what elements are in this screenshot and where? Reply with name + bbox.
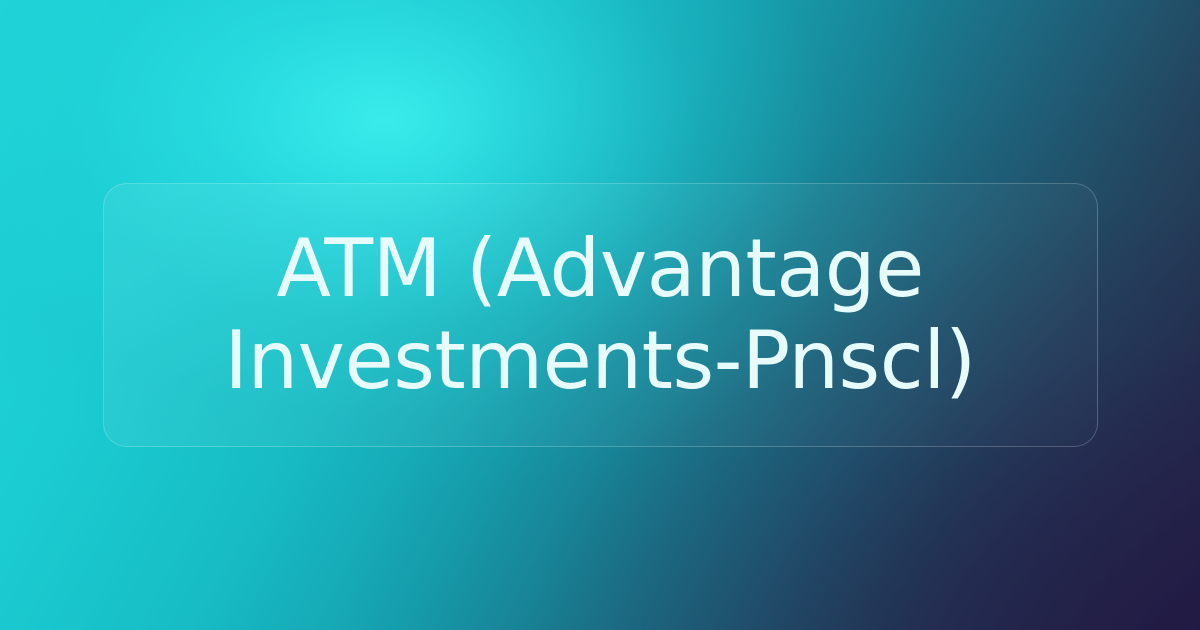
page-title: ATM (Advantage Investments-Pnscl) bbox=[170, 223, 1030, 407]
og-image-canvas: ATM (Advantage Investments-Pnscl) bbox=[0, 0, 1200, 630]
title-card: ATM (Advantage Investments-Pnscl) bbox=[103, 183, 1098, 447]
card-stage: ATM (Advantage Investments-Pnscl) bbox=[0, 0, 1200, 630]
